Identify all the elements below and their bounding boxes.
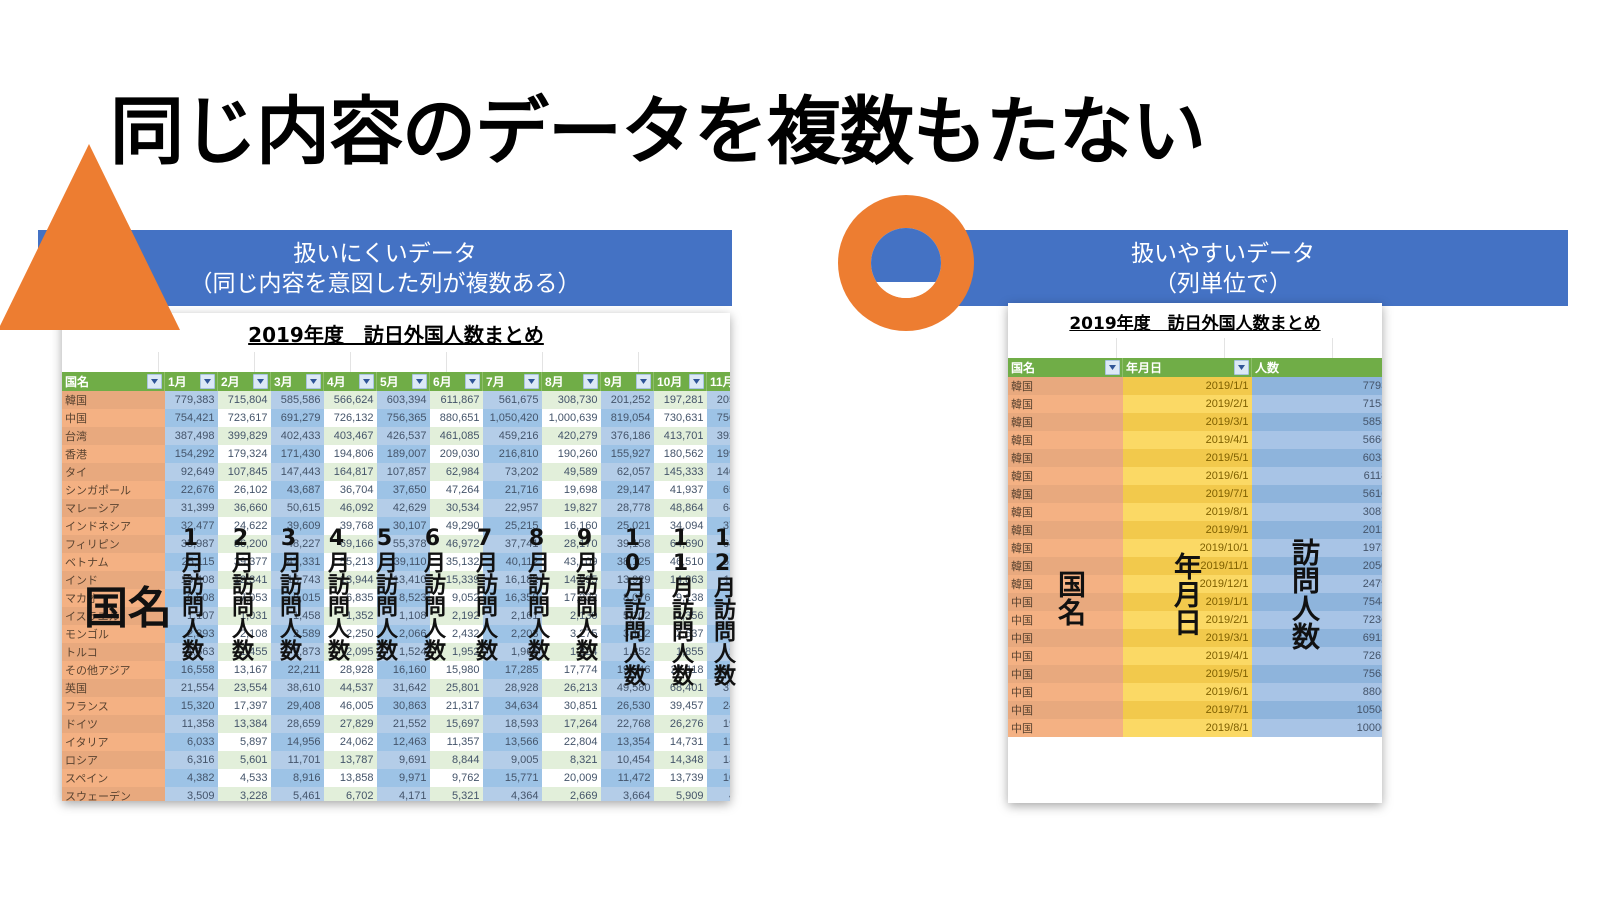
- cell-value: 3,275: [542, 625, 601, 643]
- cell-value: 723,617: [218, 409, 271, 427]
- cell-count: 726132: [1252, 647, 1383, 665]
- cell-value: 180,562: [654, 445, 707, 463]
- column-header-label: 7月: [486, 375, 505, 389]
- cell-value: 14,863: [654, 571, 707, 589]
- table-row: ロシア6,3165,60111,70113,7879,6918,8449,005…: [62, 751, 730, 769]
- cell-value: 880,651: [430, 409, 483, 427]
- cell-value: 190,260: [542, 445, 601, 463]
- cell-value: 611,867: [430, 391, 483, 409]
- cell-country: インドネシア: [62, 517, 165, 535]
- cell-country: ロシア: [62, 751, 165, 769]
- cell-value: 39,377: [218, 553, 271, 571]
- table-row: スペイン4,3824,5338,91613,8589,9719,76215,77…: [62, 769, 730, 787]
- donut-shape: [838, 195, 974, 331]
- table-row: 中国2019/3/1691279: [1008, 629, 1382, 647]
- cell-value: 19,546: [601, 661, 654, 679]
- cell-value: 691,279: [271, 409, 324, 427]
- cell-value: 49,580: [601, 679, 654, 697]
- cell-value: 2,348: [707, 607, 731, 625]
- cell-date: 2019/4/1: [1123, 431, 1252, 449]
- filter-dropdown-icon[interactable]: [689, 374, 704, 389]
- cell-value: 8,523: [377, 589, 430, 607]
- table-row: 韓国2019/10/1197281: [1008, 539, 1382, 557]
- cell-value: 11,472: [601, 769, 654, 787]
- column-header-6[interactable]: 6月: [430, 372, 483, 391]
- cell-value: 2,393: [165, 625, 218, 643]
- cell-value: 2,589: [271, 625, 324, 643]
- cell-value: 15,320: [165, 697, 218, 715]
- cell-value: 46,510: [654, 553, 707, 571]
- table-row: 韓国2019/12/1247959: [1008, 575, 1382, 593]
- cell-value: 750,951: [707, 409, 731, 427]
- column-header-7[interactable]: 7月: [483, 372, 542, 391]
- cell-country: スペイン: [62, 769, 165, 787]
- column-header-2[interactable]: 人数: [1252, 358, 1383, 377]
- cell-value: 14,348: [654, 751, 707, 769]
- cell-value: 55,213: [324, 553, 377, 571]
- cell-value: 4,533: [218, 769, 271, 787]
- cell-country: インド: [62, 571, 165, 589]
- cell-value: 39,768: [324, 517, 377, 535]
- cell-value: 3,228: [218, 787, 271, 801]
- cell-date: 2019/5/1: [1123, 665, 1252, 683]
- table-row: ドイツ11,35813,38428,65927,82921,55215,6971…: [62, 715, 730, 733]
- cell-value: 12,341: [218, 571, 271, 589]
- cell-value: 36,200: [218, 535, 271, 553]
- cell-value: 39,609: [271, 517, 324, 535]
- cell-value: 8,916: [271, 769, 324, 787]
- cell-value: 48,864: [654, 499, 707, 517]
- cell-value: 30,107: [377, 517, 430, 535]
- cell-value: 37,650: [377, 481, 430, 499]
- column-header-label: 人数: [1255, 361, 1279, 375]
- filter-dropdown-icon[interactable]: [465, 374, 480, 389]
- cell-value: 399,829: [218, 427, 271, 445]
- cell-date: 2019/12/1: [1123, 575, 1252, 593]
- cell-country: 中国: [1008, 629, 1123, 647]
- cell-value: 47,264: [430, 481, 483, 499]
- cell-value: 402,433: [271, 427, 324, 445]
- cell-date: 2019/7/1: [1123, 701, 1252, 719]
- cell-country: 韓国: [1008, 539, 1123, 557]
- cell-value: 1,108: [377, 607, 430, 625]
- cell-value: 11,358: [165, 715, 218, 733]
- left-table-body: 韓国779,383715,804585,586566,624603,394611…: [62, 391, 730, 801]
- column-header-11[interactable]: 11月: [707, 372, 731, 391]
- cell-value: 28,928: [483, 679, 542, 697]
- cell-value: 65,295: [707, 481, 731, 499]
- cell-country: 韓国: [1008, 449, 1123, 467]
- right-grid-strip: [1008, 338, 1382, 358]
- cell-value: 21,554: [165, 679, 218, 697]
- cell-value: 22,804: [542, 733, 601, 751]
- left-grid-strip: [62, 352, 730, 372]
- cell-country: 韓国: [1008, 521, 1123, 539]
- cell-value: 13,167: [218, 661, 271, 679]
- cell-value: 25,801: [430, 679, 483, 697]
- cell-country: 英国: [62, 679, 165, 697]
- cell-count: 723617: [1252, 611, 1383, 629]
- cell-value: 2,130: [542, 607, 601, 625]
- column-header-label: 6月: [433, 375, 452, 389]
- cell-value: 17,285: [483, 661, 542, 679]
- cell-value: 36,704: [324, 481, 377, 499]
- table-row: 中国2019/2/1723617: [1008, 611, 1382, 629]
- cell-value: 17,774: [542, 661, 601, 679]
- cell-country: 韓国: [1008, 395, 1123, 413]
- cell-value: 36,660: [218, 499, 271, 517]
- cell-value: 4,364: [483, 787, 542, 801]
- table-row: 韓国779,383715,804585,586566,624603,394611…: [62, 391, 730, 409]
- column-header-label: 国名: [1011, 361, 1035, 375]
- cell-value: 48,227: [271, 535, 324, 553]
- cell-value: 6,316: [165, 751, 218, 769]
- cell-value: 26,530: [601, 697, 654, 715]
- cell-value: 12,350: [707, 733, 731, 751]
- cell-country: ドイツ: [62, 715, 165, 733]
- cell-value: 35,987: [165, 535, 218, 553]
- filter-dropdown-icon[interactable]: [583, 374, 598, 389]
- banner-right-line1: 扱いやすいデータ: [878, 238, 1568, 268]
- cell-count: 1050420: [1252, 701, 1383, 719]
- cell-value: 308,730: [542, 391, 601, 409]
- cell-value: 2,203: [483, 625, 542, 643]
- cell-value: 145,333: [654, 463, 707, 481]
- cell-country: フィリピン: [62, 535, 165, 553]
- filter-dropdown-icon[interactable]: [359, 374, 374, 389]
- cell-value: 17,264: [542, 715, 601, 733]
- cell-value: 38,125: [601, 553, 654, 571]
- table-row: 韓国2019/3/1585586: [1008, 413, 1382, 431]
- right-table-title: 2019年度 訪日外国人数まとめ: [1008, 303, 1382, 338]
- cell-value: 1,824: [542, 643, 601, 661]
- cell-value: 6,702: [324, 787, 377, 801]
- table-row: 韓国2019/1/1779383: [1008, 377, 1382, 395]
- cell-value: 22,957: [483, 499, 542, 517]
- spreadsheet-panel-narrow: 2019年度 訪日外国人数まとめ 国名年月日人数 韓国2019/1/177938…: [1008, 303, 1382, 803]
- cell-country: 中国: [1008, 647, 1123, 665]
- cell-value: 68,401: [654, 679, 707, 697]
- column-header-10[interactable]: 10月: [654, 372, 707, 391]
- column-header-1[interactable]: 年月日: [1123, 358, 1252, 377]
- cell-count: 201252: [1252, 521, 1383, 539]
- table-row: マレーシア31,39936,66050,61546,09242,62930,53…: [62, 499, 730, 517]
- cell-value: 62,984: [430, 463, 483, 481]
- cell-value: 26,102: [218, 481, 271, 499]
- cell-value: 30,534: [430, 499, 483, 517]
- cell-value: 9,971: [377, 769, 430, 787]
- column-header-9[interactable]: 9月: [601, 372, 654, 391]
- cell-value: 34,094: [654, 517, 707, 535]
- cell-date: 2019/2/1: [1123, 611, 1252, 629]
- column-header-label: 11月: [710, 375, 730, 389]
- cell-value: 34,634: [483, 697, 542, 715]
- cell-country: タイ: [62, 463, 165, 481]
- cell-country: 韓国: [1008, 431, 1123, 449]
- cell-date: 2019/10/1: [1123, 539, 1252, 557]
- cell-country: 中国: [1008, 611, 1123, 629]
- cell-value: 420,279: [542, 427, 601, 445]
- cell-value: 15,980: [430, 661, 483, 679]
- cell-date: 2019/11/1: [1123, 557, 1252, 575]
- cell-value: 3,664: [601, 787, 654, 801]
- cell-value: 4,843: [707, 787, 731, 801]
- cell-value: 201,252: [601, 391, 654, 409]
- table-row: モンゴル2,3932,1082,5892,2502,0662,4322,2033…: [62, 625, 730, 643]
- cell-value: 28,170: [542, 535, 601, 553]
- cell-country: 韓国: [1008, 413, 1123, 431]
- cell-date: 2019/5/1: [1123, 449, 1252, 467]
- cell-date: 2019/4/1: [1123, 647, 1252, 665]
- filter-dropdown-icon[interactable]: [200, 374, 215, 389]
- cell-value: 20,009: [542, 769, 601, 787]
- cell-value: 13,384: [218, 715, 271, 733]
- column-header-label: 国名: [65, 375, 89, 389]
- filter-dropdown-icon[interactable]: [147, 374, 162, 389]
- cell-value: 376,186: [601, 427, 654, 445]
- cell-value: 14,956: [271, 733, 324, 751]
- cell-value: 21,552: [377, 715, 430, 733]
- cell-value: 140,265: [707, 463, 731, 481]
- cell-count: 561675: [1252, 485, 1383, 503]
- cell-value: 32,477: [165, 517, 218, 535]
- cell-country: マレーシア: [62, 499, 165, 517]
- cell-value: 35,132: [430, 553, 483, 571]
- table-row: 韓国2019/7/1561675: [1008, 485, 1382, 503]
- table-row: 台湾387,498399,829402,433403,467426,537461…: [62, 427, 730, 445]
- column-header-2[interactable]: 2月: [218, 372, 271, 391]
- cell-date: 2019/6/1: [1123, 467, 1252, 485]
- cell-value: 1,031: [218, 607, 271, 625]
- cell-value: 3,102: [601, 625, 654, 643]
- cell-value: 29,408: [271, 697, 324, 715]
- cell-value: 216,810: [483, 445, 542, 463]
- cell-value: 147,443: [271, 463, 324, 481]
- cell-value: 8,076: [601, 589, 654, 607]
- cell-value: 1,952: [430, 643, 483, 661]
- cell-value: 13,944: [324, 571, 377, 589]
- cell-value: 18,593: [483, 715, 542, 733]
- cell-value: 5,321: [430, 787, 483, 801]
- cell-count: 603394: [1252, 449, 1383, 467]
- cell-country: 香港: [62, 445, 165, 463]
- banner-right-line2: （列単位で）: [878, 268, 1568, 298]
- cell-value: 2,637: [654, 625, 707, 643]
- cell-value: 21,716: [483, 481, 542, 499]
- column-header-3[interactable]: 3月: [271, 372, 324, 391]
- cell-value: 26,276: [654, 715, 707, 733]
- cell-value: 22,211: [271, 661, 324, 679]
- cell-country: 中国: [1008, 665, 1123, 683]
- cell-value: 43,687: [271, 481, 324, 499]
- cell-count: 779383: [1252, 377, 1383, 395]
- cell-value: 40,112: [483, 553, 542, 571]
- cell-value: 16,160: [377, 661, 430, 679]
- cell-value: 4,382: [165, 769, 218, 787]
- right-table-body: 韓国2019/1/1779383韓国2019/2/1715804韓国2019/3…: [1008, 377, 1382, 737]
- cell-value: 9,691: [377, 751, 430, 769]
- table-row: 韓国2019/8/1308730: [1008, 503, 1382, 521]
- cell-value: 29,147: [601, 481, 654, 499]
- cell-country: 韓国: [1008, 377, 1123, 395]
- cell-value: 21,115: [707, 661, 731, 679]
- table-row: 中国2019/7/11050420: [1008, 701, 1382, 719]
- table-row: インドネシア32,47724,62239,60939,76830,10749,2…: [62, 517, 730, 535]
- cell-value: 9,138: [654, 589, 707, 607]
- filter-dropdown-icon[interactable]: [306, 374, 321, 389]
- cell-country: 韓国: [1008, 485, 1123, 503]
- cell-value: 14,731: [654, 733, 707, 751]
- cell-value: 1,873: [271, 643, 324, 661]
- cell-value: 47,331: [271, 553, 324, 571]
- cell-value: 49,290: [430, 517, 483, 535]
- cell-value: 11,357: [430, 733, 483, 751]
- cell-value: 2,432: [430, 625, 483, 643]
- cell-value: 37,709: [707, 679, 731, 697]
- column-header-label: 1月: [168, 375, 187, 389]
- cell-count: 308730: [1252, 503, 1383, 521]
- cell-count: 566624: [1252, 431, 1383, 449]
- right-data-table: 国名年月日人数 韓国2019/1/1779383韓国2019/2/1715804…: [1008, 358, 1382, 737]
- filter-dropdown-icon[interactable]: [253, 374, 268, 389]
- cell-value: 5,909: [654, 787, 707, 801]
- cell-country: スウェーデン: [62, 787, 165, 801]
- cell-value: 9,309: [707, 589, 731, 607]
- column-header-1[interactable]: 1月: [165, 372, 218, 391]
- cell-value: 1,563: [165, 643, 218, 661]
- cell-date: 2019/3/1: [1123, 629, 1252, 647]
- cell-value: 413,701: [654, 427, 707, 445]
- filter-dropdown-icon[interactable]: [636, 374, 651, 389]
- cell-value: 164,817: [324, 463, 377, 481]
- filter-dropdown-icon[interactable]: [1234, 360, 1249, 375]
- cell-value: 730,631: [654, 409, 707, 427]
- cell-value: 2,066: [377, 625, 430, 643]
- column-header-5[interactable]: 5月: [377, 372, 430, 391]
- cell-value: 2,192: [430, 607, 483, 625]
- cell-country: 中国: [1008, 701, 1123, 719]
- cell-value: 5,461: [271, 787, 324, 801]
- cell-value: 194,806: [324, 445, 377, 463]
- cell-value: 44,537: [324, 679, 377, 697]
- column-header-0[interactable]: 国名: [62, 372, 165, 391]
- filter-dropdown-icon[interactable]: [524, 374, 539, 389]
- table-row: 香港154,292179,324171,430194,806189,007209…: [62, 445, 730, 463]
- cell-value: 42,629: [377, 499, 430, 517]
- cell-count: 205042: [1252, 557, 1383, 575]
- cell-value: 69,166: [324, 535, 377, 553]
- cell-value: 16,358: [483, 589, 542, 607]
- cell-value: 24,622: [218, 517, 271, 535]
- cell-count: 715804: [1252, 395, 1383, 413]
- cell-value: 13,410: [377, 571, 430, 589]
- cell-country: 台湾: [62, 427, 165, 445]
- cell-value: 1,455: [218, 643, 271, 661]
- cell-value: 459,216: [483, 427, 542, 445]
- cell-value: 50,615: [271, 499, 324, 517]
- cell-value: 1,050,420: [483, 409, 542, 427]
- cell-value: 17,232: [542, 589, 601, 607]
- table-row: ベトナム25,11539,37747,33155,21339,11035,132…: [62, 553, 730, 571]
- column-header-8[interactable]: 8月: [542, 372, 601, 391]
- cell-value: 62,057: [601, 463, 654, 481]
- cell-value: 5,897: [218, 733, 271, 751]
- cell-value: 756,365: [377, 409, 430, 427]
- cell-country: 韓国: [62, 391, 165, 409]
- cell-count: 197281: [1252, 539, 1383, 557]
- left-data-table: 国名1月2月3月4月5月6月7月8月9月10月11月12月 韓国779,3837…: [62, 372, 730, 801]
- cell-value: 2,176: [707, 643, 731, 661]
- cell-value: 6,835: [324, 589, 377, 607]
- table-row: 中国754,421723,617691,279726,132756,365880…: [62, 409, 730, 427]
- cell-value: 2,356: [654, 607, 707, 625]
- cell-date: 2019/8/1: [1123, 503, 1252, 521]
- table-row: シンガポール22,67626,10243,68736,70437,65047,2…: [62, 481, 730, 499]
- cell-value: 2,669: [542, 787, 601, 801]
- cell-count: 247959: [1252, 575, 1383, 593]
- cell-value: 199,702: [707, 445, 731, 463]
- cell-count: 585586: [1252, 413, 1383, 431]
- column-header-label: 9月: [604, 375, 623, 389]
- table-row: トルコ1,5631,4551,8732,0951,5241,9521,9651,…: [62, 643, 730, 661]
- table-row: タイ92,649107,845147,443164,817107,85762,9…: [62, 463, 730, 481]
- cell-value: 1,852: [601, 643, 654, 661]
- donut-hole: [871, 228, 941, 298]
- cell-date: 2019/7/1: [1123, 485, 1252, 503]
- cell-value: 585,586: [271, 391, 324, 409]
- cell-date: 2019/9/1: [1123, 521, 1252, 539]
- cell-country: マカオ: [62, 589, 165, 607]
- cell-value: 5,102: [601, 607, 654, 625]
- cell-value: 24,062: [324, 733, 377, 751]
- cell-value: 15,339: [430, 571, 483, 589]
- cell-count: 691279: [1252, 629, 1383, 647]
- table-row: イスラエル1,1071,0311,4581,3521,1082,1922,161…: [62, 607, 730, 625]
- filter-dropdown-icon[interactable]: [1105, 360, 1120, 375]
- cell-value: 25,115: [165, 553, 218, 571]
- cell-value: 1,855: [654, 643, 707, 661]
- table-row: マカオ6,6087,0538,0156,8358,5239,05216,3581…: [62, 589, 730, 607]
- cell-value: 197,281: [654, 391, 707, 409]
- cell-value: 13,142: [707, 751, 731, 769]
- cell-country: 中国: [1008, 593, 1123, 611]
- filter-dropdown-icon[interactable]: [412, 374, 427, 389]
- cell-value: 5,601: [218, 751, 271, 769]
- column-header-0[interactable]: 国名: [1008, 358, 1123, 377]
- column-header-label: 年月日: [1126, 361, 1162, 375]
- cell-value: 13,858: [324, 769, 377, 787]
- cell-value: 55,378: [377, 535, 430, 553]
- cell-value: 566,624: [324, 391, 377, 409]
- table-row: 韓国2019/4/1566624: [1008, 431, 1382, 449]
- cell-value: 403,467: [324, 427, 377, 445]
- column-header-label: 2月: [221, 375, 240, 389]
- cell-date: 2019/6/1: [1123, 683, 1252, 701]
- cell-value: 9,762: [430, 769, 483, 787]
- cell-value: 92,649: [165, 463, 218, 481]
- cell-value: 28,928: [324, 661, 377, 679]
- cell-value: 41,937: [654, 481, 707, 499]
- cell-value: 426,537: [377, 427, 430, 445]
- cell-value: 205,042: [707, 391, 731, 409]
- cell-value: 51,092: [707, 553, 731, 571]
- column-header-4[interactable]: 4月: [324, 372, 377, 391]
- cell-value: 11,739: [707, 571, 731, 589]
- cell-value: 39,110: [377, 553, 430, 571]
- cell-value: 10,535: [707, 769, 731, 787]
- cell-value: 209,030: [430, 445, 483, 463]
- cell-country: 韓国: [1008, 575, 1123, 593]
